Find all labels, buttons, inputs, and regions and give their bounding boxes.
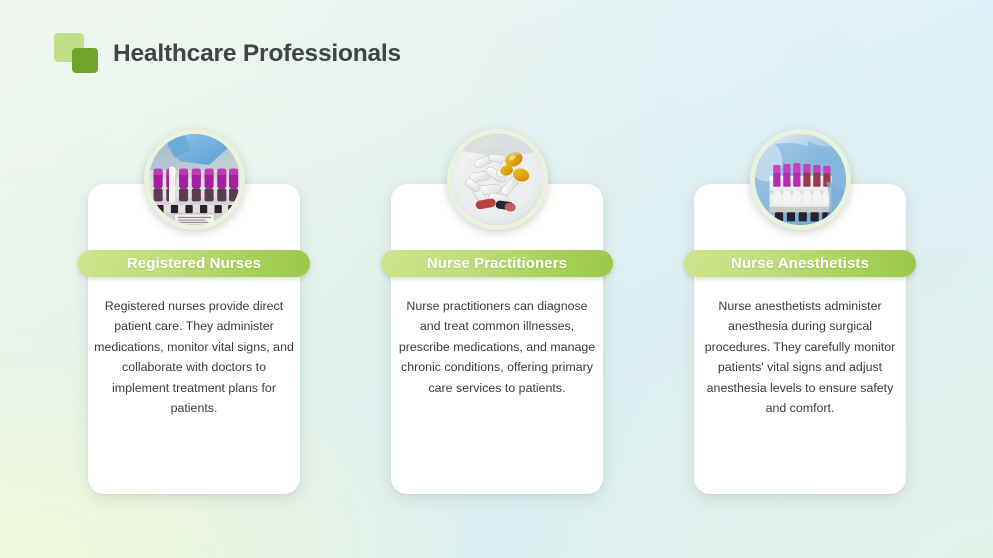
card-title: Nurse Practitioners bbox=[427, 255, 567, 272]
cards-row: Registered Nurses Registered nurses prov… bbox=[0, 129, 993, 499]
card-nurse-practitioners[interactable]: Nurse Practitioners Nurse practitioners … bbox=[374, 129, 620, 499]
card-description: Nurse anesthetists administer anesthesia… bbox=[699, 296, 901, 418]
two-squares-logo-icon bbox=[54, 33, 100, 75]
card-nurse-anesthetists[interactable]: Nurse Anesthetists Nurse anesthetists ad… bbox=[677, 129, 923, 499]
card-image-medallion bbox=[750, 129, 851, 230]
card-title-banner: Nurse Anesthetists bbox=[684, 250, 916, 277]
card-image-medallion bbox=[447, 129, 548, 230]
card-title-banner: Registered Nurses bbox=[78, 250, 310, 277]
blood-sample-tubes-rack-photo-icon bbox=[149, 134, 240, 225]
pills-capsules-in-bowl-photo-icon bbox=[452, 134, 543, 225]
card-registered-nurses[interactable]: Registered Nurses Registered nurses prov… bbox=[71, 129, 317, 499]
card-title-banner: Nurse Practitioners bbox=[381, 250, 613, 277]
card-title: Nurse Anesthetists bbox=[731, 255, 869, 272]
card-description: Registered nurses provide direct patient… bbox=[93, 296, 295, 418]
page-header: Healthcare Professionals bbox=[54, 31, 401, 77]
card-title: Registered Nurses bbox=[127, 255, 261, 272]
test-tube-rack-held-by-technician-photo-icon bbox=[755, 134, 846, 225]
logo-dark-square bbox=[72, 48, 98, 73]
page-title: Healthcare Professionals bbox=[113, 40, 401, 68]
card-image-medallion bbox=[144, 129, 245, 230]
card-description: Nurse practitioners can diagnose and tre… bbox=[396, 296, 598, 398]
